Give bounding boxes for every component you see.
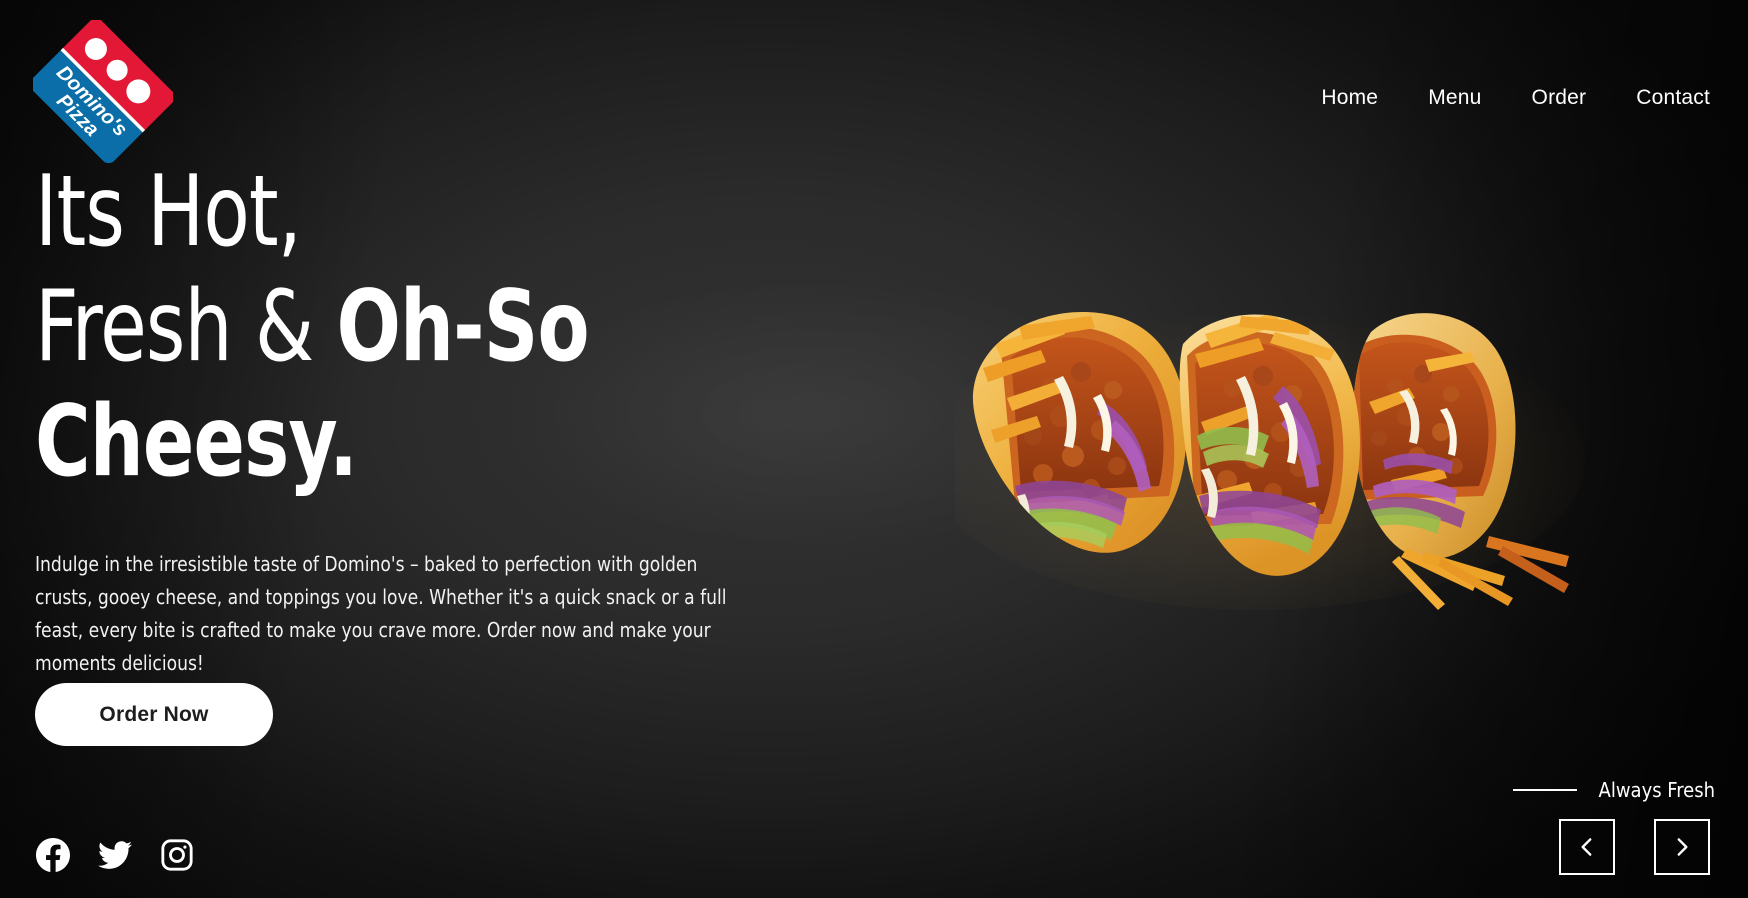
main-navigation: Home Menu Order Contact [1321,86,1710,110]
instagram-icon[interactable] [160,838,194,872]
chevron-left-icon [1574,834,1600,860]
tacos-illustration [955,290,1695,620]
carousel-tagline: Always Fresh [1513,778,1715,802]
carousel-controls [1559,819,1710,875]
logo-svg: Domino's Pizza [33,20,173,165]
headline-line-1: Its Hot, [35,155,301,269]
carousel-prev-button[interactable] [1559,819,1615,875]
social-links [36,838,194,872]
three-tacos-photo [955,290,1695,620]
chevron-right-icon [1669,834,1695,860]
order-now-button[interactable]: Order Now [35,683,273,746]
nav-item-contact[interactable]: Contact [1636,86,1710,110]
hero-section: Domino's Pizza Home Menu Order Contact [0,0,1748,898]
headline-line-2-bold: Oh-So [336,270,588,384]
nav-item-order[interactable]: Order [1532,86,1587,110]
carousel-next-button[interactable] [1654,819,1710,875]
hero-copy: Its Hot,Fresh & Oh-SoCheesy. Indulge in … [35,155,795,680]
headline-line-3-bold: Cheesy. [35,385,357,499]
hero-description: Indulge in the irresistible taste of Dom… [35,548,744,680]
facebook-icon[interactable] [36,838,70,872]
nav-item-home[interactable]: Home [1321,86,1378,110]
tagline-label: Always Fresh [1599,778,1715,802]
nav-item-menu[interactable]: Menu [1428,86,1481,110]
tagline-rule [1513,789,1577,791]
dominos-pizza-logo[interactable]: Domino's Pizza [33,20,173,165]
page-title: Its Hot,Fresh & Oh-SoCheesy. [35,155,689,500]
twitter-icon[interactable] [98,838,132,872]
headline-line-2-light: Fresh & [35,270,336,384]
